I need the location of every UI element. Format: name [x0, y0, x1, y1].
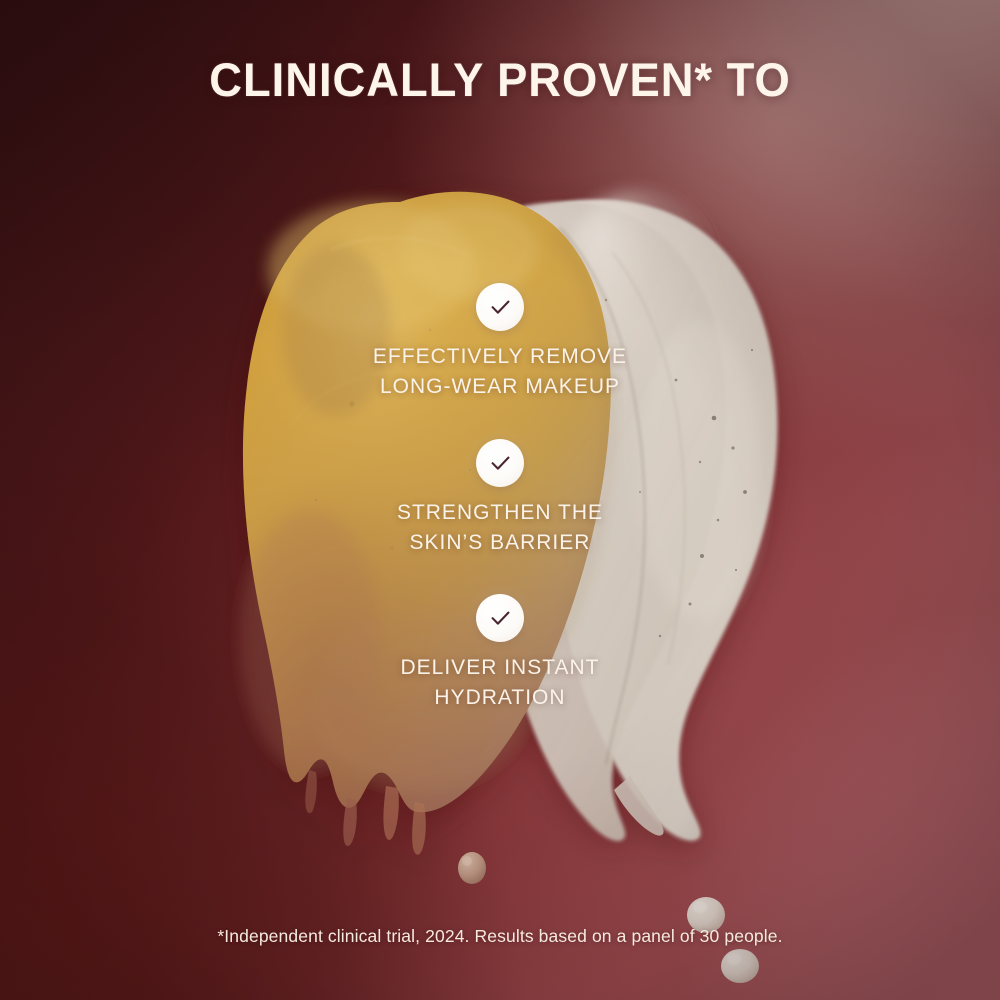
promo-banner: CLINICALLY PROVEN* TO EFFECTIVELY REMOVE…: [0, 0, 1000, 1000]
footnote-disclaimer: *Independent clinical trial, 2024. Resul…: [0, 926, 1000, 947]
benefit-item: DELIVER INSTANT HYDRATION: [0, 594, 1000, 713]
benefit-label: EFFECTIVELY REMOVE LONG-WEAR MAKEUP: [13, 342, 988, 402]
check-icon: [476, 439, 524, 487]
product-droplets: [458, 852, 759, 983]
check-icon: [476, 594, 524, 642]
benefit-item: STRENGTHEN THE SKIN’S BARRIER: [0, 439, 1000, 558]
benefit-item: EFFECTIVELY REMOVE LONG-WEAR MAKEUP: [0, 283, 1000, 402]
benefit-label: STRENGTHEN THE SKIN’S BARRIER: [13, 498, 988, 558]
page-title: CLINICALLY PROVEN* TO: [18, 52, 983, 107]
check-icon: [476, 283, 524, 331]
benefit-label: DELIVER INSTANT HYDRATION: [13, 653, 988, 713]
